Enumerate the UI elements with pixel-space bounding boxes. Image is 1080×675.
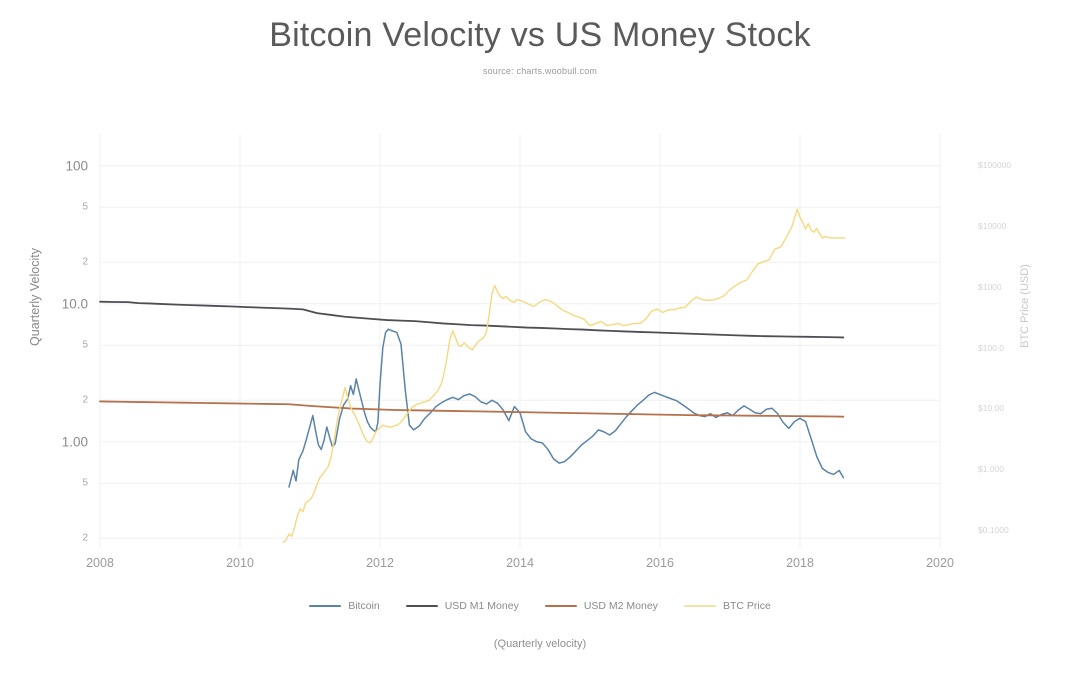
y-axis-left-tick-label: 5 (20, 202, 88, 213)
series-line-btc-price (283, 209, 844, 542)
y-axis-left-tick-label: 2 (20, 533, 88, 544)
x-axis-tick-label: 2020 (926, 556, 954, 570)
x-axis-tick-label: 2012 (366, 556, 394, 570)
legend-item-label: Bitcoin (348, 600, 380, 612)
y-axis-right-tick-label: $1000 (978, 282, 1002, 292)
x-axis-tick-label: 2018 (786, 556, 814, 570)
chart-root: Bitcoin Velocity vs US Money Stock sourc… (0, 0, 1080, 675)
y-axis-left-tick-label: 5 (20, 478, 88, 489)
y-axis-right-tick-label: $100000 (978, 160, 1011, 170)
y-axis-left-tick-label: 5 (20, 340, 88, 351)
y-axis-left-tick-label: 2 (20, 257, 88, 268)
y-axis-left-tick-label: 100 (20, 158, 88, 173)
legend-swatch-icon (684, 605, 716, 607)
plot-area: Quarterly Velocity BTC Price (USD) 10052… (0, 0, 1080, 675)
legend-item-label: BTC Price (723, 600, 771, 612)
y-axis-left-tick-label: 10.0 (20, 296, 88, 311)
x-axis-tick-label: 2010 (226, 556, 254, 570)
data-series-layer (100, 209, 845, 542)
gridlines (100, 134, 940, 548)
legend-item-label: USD M2 Money (584, 600, 658, 612)
y-axis-right-title: BTC Price (USD) (1019, 226, 1031, 386)
legend-swatch-icon (545, 605, 577, 607)
series-line-usd-m1-money (100, 302, 843, 338)
legend-item-bitcoin[interactable]: Bitcoin (309, 600, 380, 612)
y-axis-right-tick-label: $100.0 (978, 343, 1004, 353)
legend-item-usd-m1-money[interactable]: USD M1 Money (406, 600, 519, 612)
legend-swatch-icon (406, 605, 438, 607)
x-axis-tick-label: 2008 (86, 556, 114, 570)
y-axis-right-tick-label: $10.00 (978, 403, 1004, 413)
y-axis-right-tick-label: $10000 (978, 221, 1006, 231)
legend-swatch-icon (309, 605, 341, 607)
y-axis-left-tick-label: 1.00 (20, 434, 88, 449)
legend-item-label: USD M1 Money (445, 600, 519, 612)
y-axis-left-tick-label: 2 (20, 395, 88, 406)
x-axis-tick-label: 2016 (646, 556, 674, 570)
chart-canvas (0, 0, 1080, 675)
legend-item-usd-m2-money[interactable]: USD M2 Money (545, 600, 658, 612)
series-line-bitcoin (289, 329, 843, 487)
chart-legend: BitcoinUSD M1 MoneyUSD M2 MoneyBTC Price (0, 600, 1080, 612)
x-axis-tick-label: 2014 (506, 556, 534, 570)
legend-item-btc-price[interactable]: BTC Price (684, 600, 771, 612)
chart-footnote: (Quarterly velocity) (0, 638, 1080, 650)
y-axis-right-tick-label: $1.000 (978, 464, 1004, 474)
y-axis-right-tick-label: $0.1000 (978, 525, 1009, 535)
